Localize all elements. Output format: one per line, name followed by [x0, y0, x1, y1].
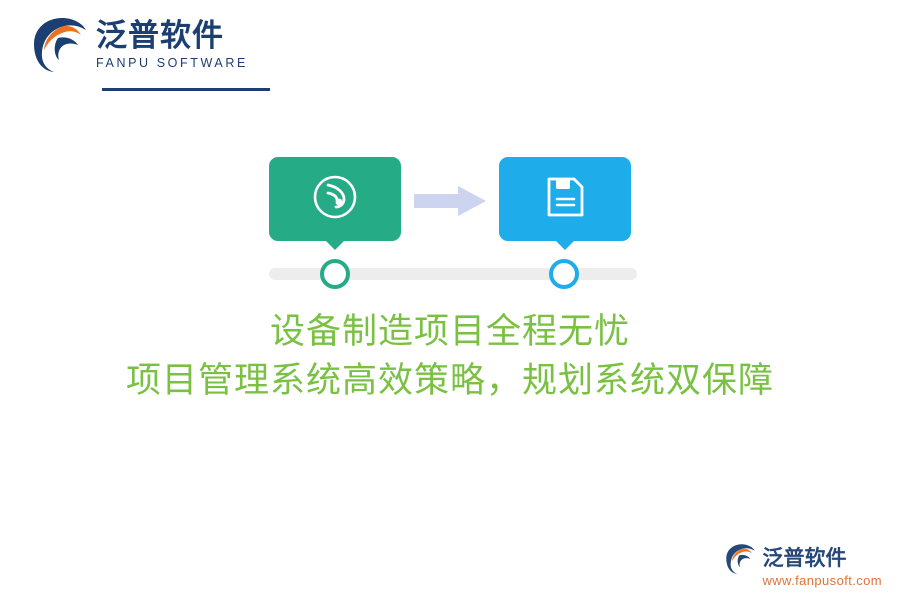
process-step-2-pointer [554, 239, 576, 250]
process-step-1-pointer [324, 239, 346, 250]
brand-logo-text: 泛普软件 FANPU SOFTWARE [96, 20, 248, 71]
timeline-node-2-icon [549, 259, 579, 289]
headline-line-1: 设备制造项目全程无忧 [0, 308, 900, 356]
fanpu-swoosh-logo-icon [723, 542, 757, 576]
footer-watermark: 泛普软件 www.fanpusoft.com [723, 542, 882, 588]
process-step-1-tile [269, 157, 401, 241]
fanpu-swoosh-logo-icon [28, 14, 90, 76]
headline: 设备制造项目全程无忧 项目管理系统高效策略，规划系统双保障 [0, 308, 900, 406]
radar-signal-icon [312, 174, 358, 225]
process-graphic [0, 148, 900, 298]
headline-line-2: 项目管理系统高效策略，规划系统双保障 [0, 356, 900, 406]
footer-brand-name: 泛普软件 [762, 547, 846, 570]
footer-watermark-text: 泛普软件 www.fanpusoft.com [762, 547, 882, 588]
brand-logo-underline [102, 88, 270, 91]
save-document-icon [544, 175, 586, 224]
brand-name-en: FANPU SOFTWARE [96, 56, 248, 70]
brand-logo: 泛普软件 FANPU SOFTWARE [28, 14, 248, 76]
process-step-2-tile [499, 157, 631, 241]
footer-url: www.fanpusoft.com [762, 573, 882, 588]
timeline-node-1-icon [320, 259, 350, 289]
brand-name-cn: 泛普软件 [96, 20, 248, 53]
right-arrow-icon [414, 186, 486, 216]
